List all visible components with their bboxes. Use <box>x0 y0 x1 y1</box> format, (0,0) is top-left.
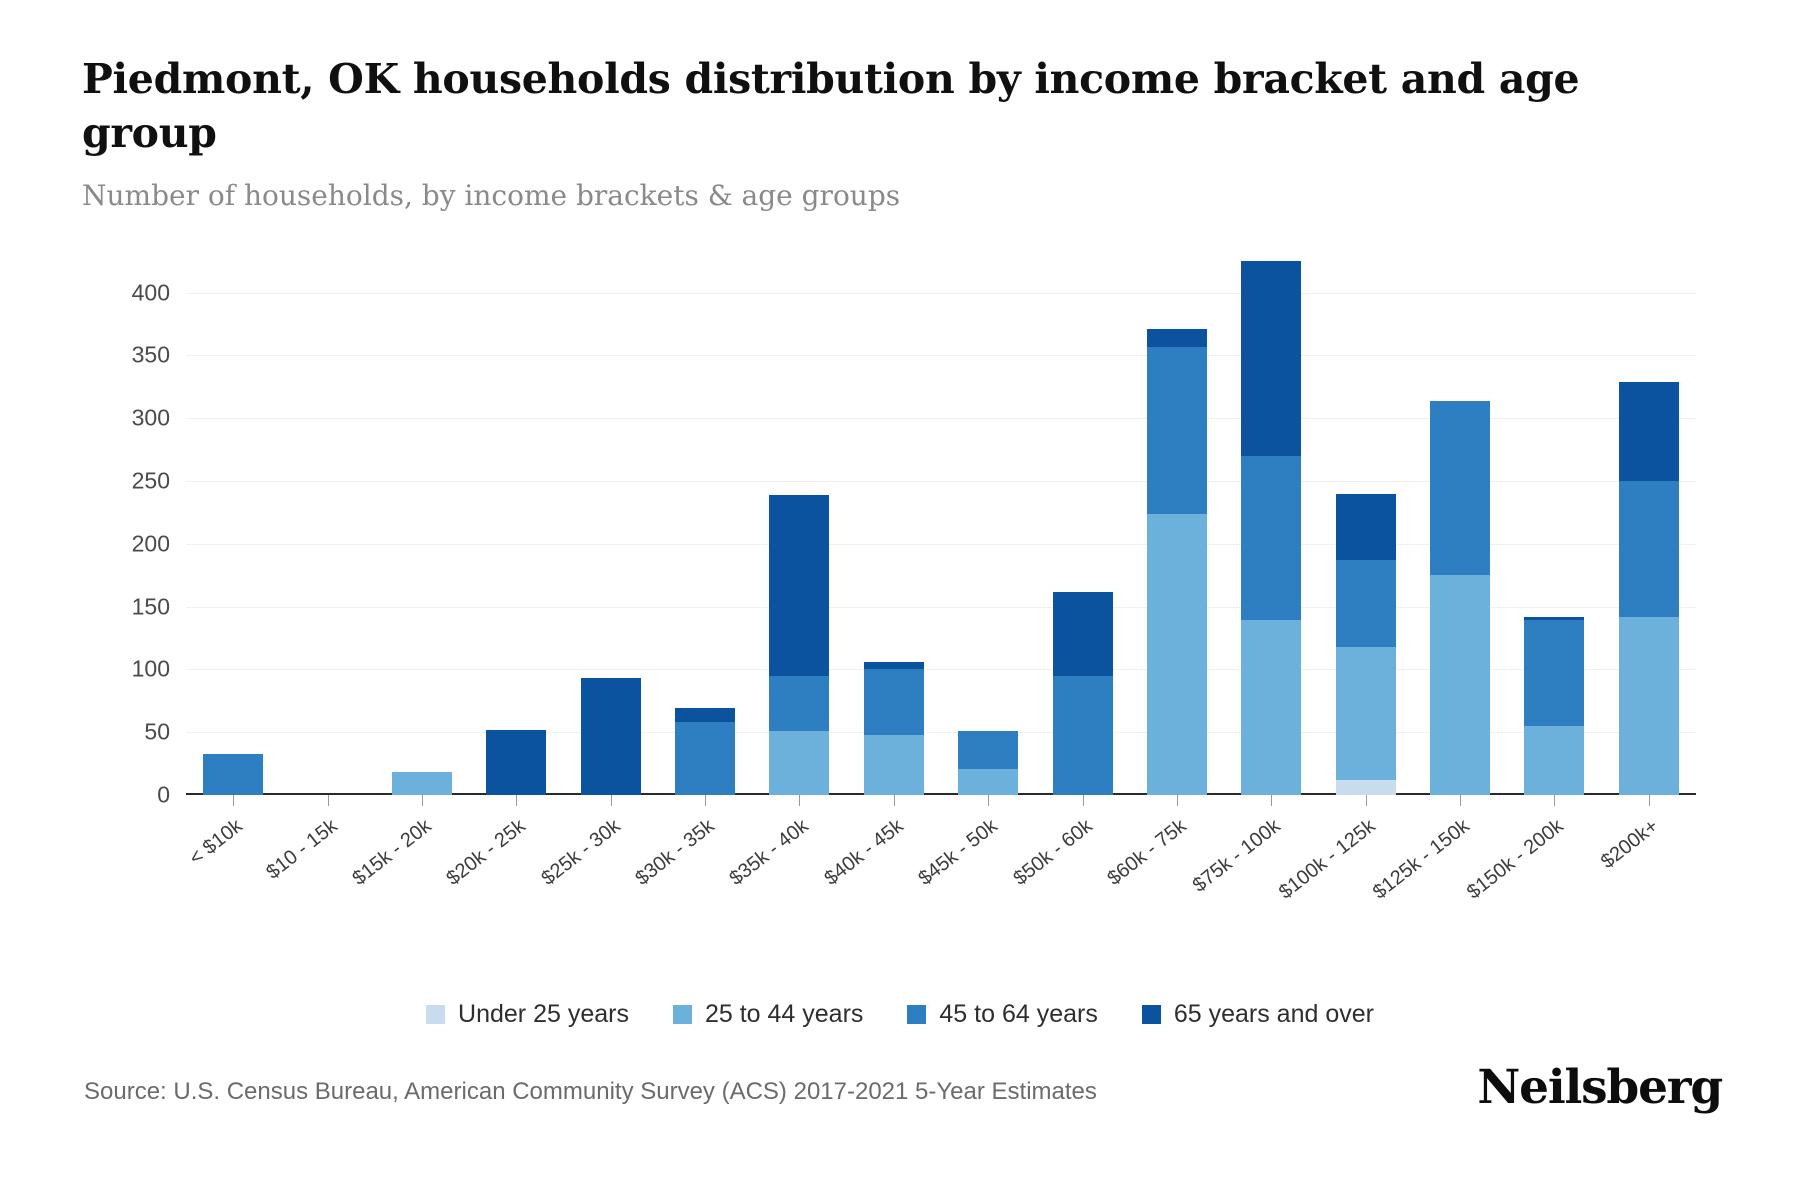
bar-segment[interactable] <box>1336 560 1396 647</box>
bar-column[interactable] <box>280 255 374 795</box>
bar-series-group <box>186 255 1696 795</box>
bar-column[interactable] <box>375 255 469 795</box>
legend-swatch-icon <box>426 1005 445 1024</box>
tick-mark <box>799 795 800 806</box>
bar-stack[interactable] <box>1430 401 1490 795</box>
brand-logo: Neilsberg <box>1477 1060 1722 1115</box>
bar-segment[interactable] <box>581 678 641 795</box>
bar-segment[interactable] <box>769 731 829 795</box>
tick-mark <box>1177 795 1178 806</box>
bar-segment[interactable] <box>1430 575 1490 795</box>
x-axis-tick-label: < $10k <box>185 815 247 870</box>
bar-segment[interactable] <box>1336 647 1396 780</box>
x-axis-label-cell: $150k - 200k <box>1507 811 1601 931</box>
bar-segment[interactable] <box>1619 382 1679 481</box>
legend-item[interactable]: 45 to 64 years <box>907 1000 1097 1029</box>
tick-mark <box>1460 795 1461 806</box>
x-axis-tick <box>1507 795 1601 809</box>
chart-legend: Under 25 years25 to 44 years45 to 64 yea… <box>0 1000 1800 1029</box>
bar-column[interactable] <box>1413 255 1507 795</box>
bar-stack[interactable] <box>958 731 1018 795</box>
bar-segment[interactable] <box>486 730 546 795</box>
bar-segment[interactable] <box>958 769 1018 795</box>
x-axis-tick <box>1413 795 1507 809</box>
y-axis-tick-label: 250 <box>132 468 170 495</box>
bar-segment[interactable] <box>769 495 829 676</box>
bar-column[interactable] <box>1507 255 1601 795</box>
bar-stack[interactable] <box>769 495 829 795</box>
y-axis-tick-label: 0 <box>157 782 170 809</box>
bar-column[interactable] <box>1319 255 1413 795</box>
bar-segment[interactable] <box>1147 514 1207 795</box>
tick-mark <box>1649 795 1650 806</box>
x-axis-tick <box>658 795 752 809</box>
bar-segment[interactable] <box>958 731 1018 769</box>
x-axis-tick <box>752 795 846 809</box>
tick-mark <box>1366 795 1367 806</box>
bar-segment[interactable] <box>1147 329 1207 347</box>
bar-stack[interactable] <box>675 708 735 795</box>
bar-segment[interactable] <box>864 669 924 734</box>
bar-column[interactable] <box>186 255 280 795</box>
bar-segment[interactable] <box>1524 620 1584 725</box>
bar-stack[interactable] <box>1241 261 1301 795</box>
legend-item[interactable]: Under 25 years <box>426 1000 629 1029</box>
x-axis-tick <box>1130 795 1224 809</box>
legend-item[interactable]: 25 to 44 years <box>673 1000 863 1029</box>
x-axis-tick <box>941 795 1035 809</box>
bar-segment[interactable] <box>203 754 263 795</box>
bar-stack[interactable] <box>1524 617 1584 795</box>
legend-label: Under 25 years <box>458 1000 629 1029</box>
bar-column[interactable] <box>658 255 752 795</box>
bar-column[interactable] <box>469 255 563 795</box>
x-axis-label-cell: $200k+ <box>1602 811 1696 931</box>
bar-column[interactable] <box>847 255 941 795</box>
bar-column[interactable] <box>941 255 1035 795</box>
x-axis-tick <box>1224 795 1318 809</box>
legend-label: 45 to 64 years <box>939 1000 1097 1029</box>
legend-label: 25 to 44 years <box>705 1000 863 1029</box>
tick-mark <box>705 795 706 806</box>
bar-segment[interactable] <box>1241 261 1301 456</box>
x-axis-tick <box>1319 795 1413 809</box>
bar-segment[interactable] <box>1053 592 1113 676</box>
y-axis-tick-label: 100 <box>132 656 170 683</box>
x-axis-tick <box>564 795 658 809</box>
legend-item[interactable]: 65 years and over <box>1142 1000 1374 1029</box>
bar-column[interactable] <box>1035 255 1129 795</box>
x-axis-tick <box>469 795 563 809</box>
tick-mark <box>1271 795 1272 806</box>
bar-stack[interactable] <box>864 662 924 795</box>
x-axis-tick <box>1602 795 1696 809</box>
bar-segment[interactable] <box>1336 494 1396 561</box>
bar-column[interactable] <box>1224 255 1318 795</box>
source-note: Source: U.S. Census Bureau, American Com… <box>84 1078 1097 1106</box>
y-axis-tick-label: 50 <box>144 719 170 746</box>
bar-column[interactable] <box>752 255 846 795</box>
bar-stack[interactable] <box>1619 382 1679 795</box>
tick-mark <box>1554 795 1555 806</box>
legend-swatch-icon <box>907 1005 926 1024</box>
bar-stack[interactable] <box>1147 329 1207 795</box>
bar-column[interactable] <box>564 255 658 795</box>
tick-mark <box>422 795 423 806</box>
x-axis-tick-label: $200k+ <box>1597 815 1663 874</box>
x-axis-tick <box>280 795 374 809</box>
bar-segment[interactable] <box>392 772 452 795</box>
legend-swatch-icon <box>673 1005 692 1024</box>
tick-mark <box>894 795 895 806</box>
tick-mark <box>516 795 517 806</box>
x-axis-tick <box>375 795 469 809</box>
y-axis-tick-label: 150 <box>132 593 170 620</box>
chart-page: Piedmont, OK households distribution by … <box>0 0 1800 1200</box>
bar-stack[interactable] <box>392 772 452 795</box>
y-axis: 050100150200250300350400 <box>84 255 170 795</box>
chart-plot-area: 050100150200250300350400 < $10k$10 - 15k… <box>0 255 1800 895</box>
bar-segment[interactable] <box>1336 780 1396 795</box>
bar-segment[interactable] <box>864 735 924 795</box>
bar-segment[interactable] <box>1619 481 1679 617</box>
bar-stack[interactable] <box>581 678 641 795</box>
bar-stack[interactable] <box>1053 592 1113 795</box>
y-axis-tick-label: 200 <box>132 530 170 557</box>
chart-header: Piedmont, OK households distribution by … <box>82 52 1642 214</box>
y-axis-tick-label: 300 <box>132 405 170 432</box>
chart-subtitle: Number of households, by income brackets… <box>82 178 1642 214</box>
x-axis-tick <box>186 795 280 809</box>
bar-segment[interactable] <box>1241 456 1301 621</box>
bar-segment[interactable] <box>1619 617 1679 795</box>
bar-segment[interactable] <box>1241 620 1301 795</box>
bar-segment[interactable] <box>1430 401 1490 576</box>
bar-segment[interactable] <box>1053 676 1113 795</box>
y-axis-tick-label: 350 <box>132 342 170 369</box>
x-axis-labels: < $10k$10 - 15k$15k - 20k$20k - 25k$25k … <box>186 811 1696 931</box>
y-axis-tick-label: 400 <box>132 279 170 306</box>
bar-segment[interactable] <box>675 708 735 722</box>
bar-segment[interactable] <box>1147 347 1207 514</box>
bar-segment[interactable] <box>675 722 735 795</box>
page-title: Piedmont, OK households distribution by … <box>82 52 1622 160</box>
tick-mark <box>233 795 234 806</box>
bar-stack[interactable] <box>203 754 263 795</box>
x-axis-tick <box>847 795 941 809</box>
bar-stack[interactable] <box>1336 494 1396 795</box>
tick-mark <box>988 795 989 806</box>
tick-mark <box>328 795 329 806</box>
bar-column[interactable] <box>1130 255 1224 795</box>
tick-mark <box>611 795 612 806</box>
bar-segment[interactable] <box>1524 726 1584 795</box>
legend-label: 65 years and over <box>1174 1000 1374 1029</box>
bar-column[interactable] <box>1602 255 1696 795</box>
x-axis-ticks <box>186 795 1696 809</box>
legend-swatch-icon <box>1142 1005 1161 1024</box>
x-axis-tick <box>1035 795 1129 809</box>
bar-segment[interactable] <box>864 662 924 670</box>
bar-stack[interactable] <box>486 730 546 795</box>
bar-segment[interactable] <box>769 676 829 731</box>
tick-mark <box>1083 795 1084 806</box>
